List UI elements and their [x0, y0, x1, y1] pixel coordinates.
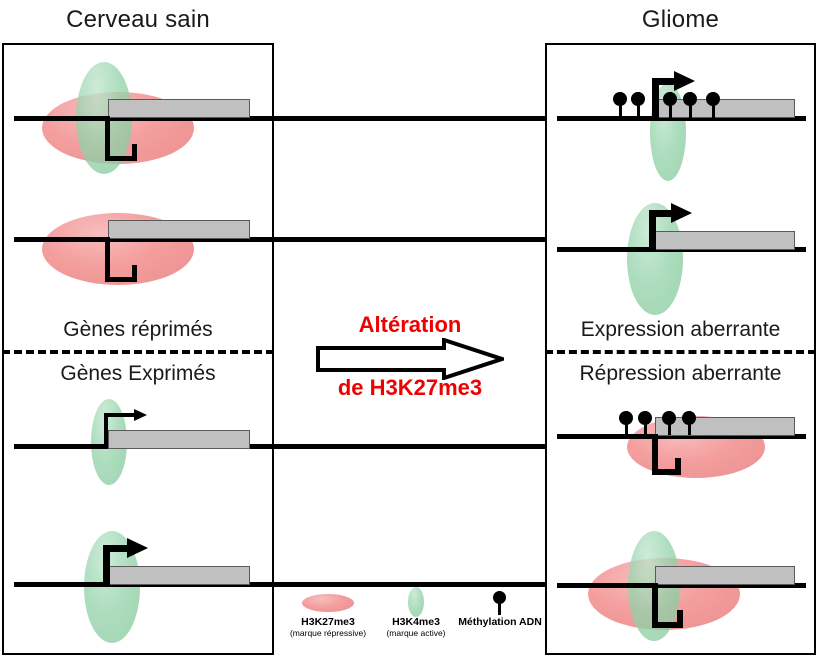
gene-body	[108, 99, 250, 118]
page-title-glioma: Gliome	[545, 6, 816, 34]
page-title-healthy-brain: Cerveau sain	[2, 6, 274, 34]
legend-glyph-wrap	[282, 586, 374, 616]
methylation-lollipop	[706, 92, 720, 118]
methylation-icon	[493, 591, 506, 615]
legend: H3K27me3 (marque répressive) H3K4me3 (ma…	[282, 586, 540, 648]
section-label-aberrant-repression: Répression aberrante	[545, 362, 816, 386]
gene-body	[108, 220, 250, 239]
gene-body	[108, 566, 250, 585]
h3k27me3-icon	[302, 594, 354, 612]
legend-label: Méthylation ADN	[454, 616, 546, 628]
section-label-repressed-genes: Gènes réprimés	[2, 318, 274, 342]
legend-glyph-wrap	[377, 586, 455, 616]
divider-line-left	[2, 350, 274, 354]
methylation-lollipop	[662, 411, 676, 435]
transition-label-top: Altération	[295, 312, 525, 338]
gene-body	[108, 430, 250, 449]
methylation-lollipop	[682, 411, 696, 435]
gene-body	[655, 566, 795, 585]
methylation-lollipop	[613, 92, 627, 118]
legend-label: H3K27me3	[282, 616, 374, 628]
methylation-lollipop	[663, 92, 677, 118]
methylation-lollipop	[619, 411, 633, 435]
legend-glyph-wrap	[454, 586, 546, 616]
legend-item-methylation: Méthylation ADN	[454, 586, 546, 628]
methylation-lollipop	[638, 411, 652, 435]
section-label-aberrant-expression: Expression aberrante	[545, 318, 816, 342]
gene-body	[652, 231, 795, 250]
legend-item-h3k4me3: H3K4me3 (marque active)	[377, 586, 455, 639]
methylation-lollipop	[631, 92, 645, 118]
legend-item-h3k27me3: H3K27me3 (marque répressive)	[282, 586, 374, 639]
gene-body	[655, 417, 795, 436]
methylation-lollipop	[683, 92, 697, 118]
transition-label-bottom: de H3K27me3	[295, 375, 525, 401]
legend-sublabel: (marque active)	[377, 628, 455, 639]
legend-sublabel: (marque répressive)	[282, 628, 374, 639]
transition-arrow	[316, 338, 504, 380]
h3k4me3-icon	[408, 587, 424, 617]
section-label-expressed-genes: Gènes Exprimés	[2, 362, 274, 386]
legend-label: H3K4me3	[377, 616, 455, 628]
divider-line-right	[545, 350, 816, 354]
